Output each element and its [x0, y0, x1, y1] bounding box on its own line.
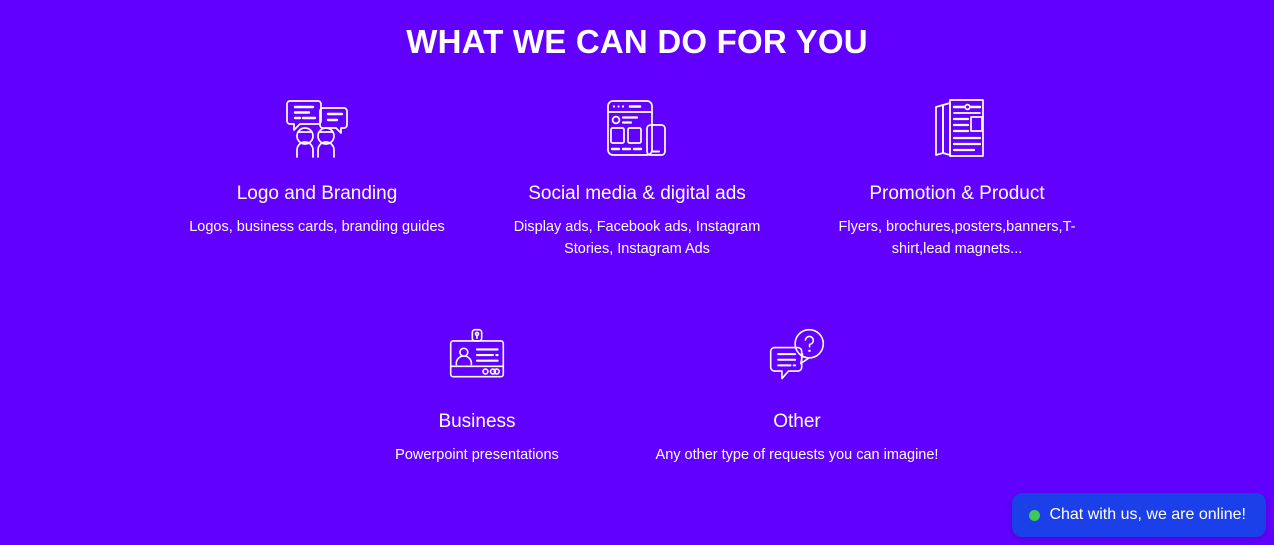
service-title: Other: [651, 410, 943, 434]
service-title: Social media & digital ads: [491, 182, 783, 206]
service-card-promotion-product[interactable]: Promotion & Product Flyers, brochures,po…: [797, 92, 1117, 260]
id-card-presentation-icon: [331, 320, 623, 392]
service-description: Logos, business cards, branding guides: [171, 216, 463, 238]
service-title: Logo and Branding: [171, 182, 463, 206]
service-title: Promotion & Product: [811, 182, 1103, 206]
services-section: WHAT WE CAN DO FOR YOU: [0, 0, 1274, 545]
online-status-dot-icon: [1029, 510, 1040, 521]
question-speech-bubble-icon: [651, 320, 943, 392]
service-title: Business: [331, 410, 623, 434]
services-grid-row-2: Business Powerpoint presentations Other: [0, 320, 1274, 486]
service-description: Powerpoint presentations: [331, 444, 623, 466]
chat-widget-label: Chat with us, we are online!: [1049, 506, 1246, 524]
services-grid-row-1: Logo and Branding Logos, business cards,…: [0, 92, 1274, 280]
stacked-flyers-icon: [811, 92, 1103, 164]
service-description: Flyers, brochures,posters,banners,T-shir…: [811, 216, 1103, 260]
speech-bubbles-people-icon: [171, 92, 463, 164]
page-title: WHAT WE CAN DO FOR YOU: [0, 0, 1274, 62]
service-card-business[interactable]: Business Powerpoint presentations: [317, 320, 637, 466]
service-description: Any other type of requests you can imagi…: [651, 444, 943, 466]
service-card-logo-and-branding[interactable]: Logo and Branding Logos, business cards,…: [157, 92, 477, 238]
service-card-other[interactable]: Other Any other type of requests you can…: [637, 320, 957, 466]
browser-window-phone-icon: [491, 92, 783, 164]
service-card-social-media[interactable]: Social media & digital ads Display ads, …: [477, 92, 797, 260]
chat-widget-button[interactable]: Chat with us, we are online!: [1012, 493, 1266, 537]
service-description: Display ads, Facebook ads, Instagram Sto…: [491, 216, 783, 260]
